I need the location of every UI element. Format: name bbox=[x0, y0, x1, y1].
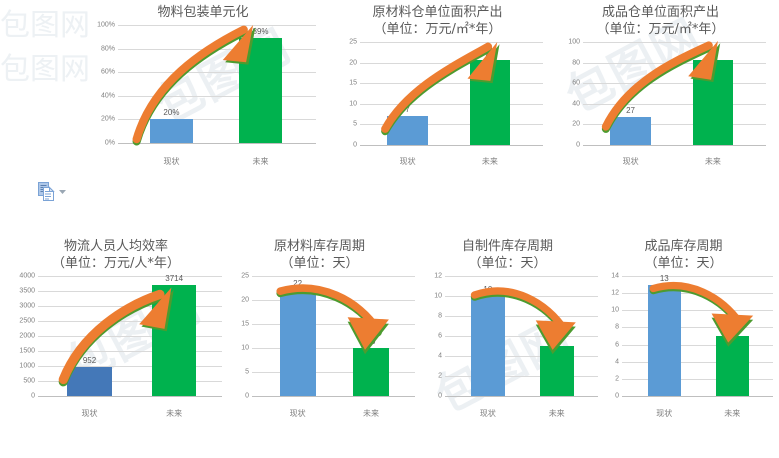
plot-area: 0 2 4 6 8 10 12 10 bbox=[415, 276, 600, 396]
y-tick: 100 bbox=[568, 39, 580, 46]
y-tick: 0 bbox=[31, 393, 35, 400]
chart-subtitle: （单位：万元/㎡*年） bbox=[330, 21, 545, 38]
y-tick: 2500 bbox=[19, 318, 35, 325]
trend-arrow-down-icon bbox=[445, 276, 598, 403]
x-tick-label: 未来 bbox=[363, 408, 379, 419]
x-tick-label: 未来 bbox=[166, 408, 182, 419]
y-tick: 3000 bbox=[19, 303, 35, 310]
y-tick: 6 bbox=[615, 341, 619, 348]
trend-arrow-up-icon bbox=[38, 276, 222, 414]
chart-logistics-staff-efficiency: 物流人员人均效率 （单位：万元/人*年） 0 500 1000 1500 200… bbox=[8, 238, 224, 428]
y-tick: 10 bbox=[349, 100, 357, 107]
chevron-down-icon[interactable] bbox=[58, 187, 67, 196]
chart-title: 原材料仓单位面积产出 bbox=[330, 4, 545, 21]
y-tick: 20% bbox=[101, 116, 115, 123]
chart-title: 成品库存周期 bbox=[592, 238, 775, 255]
x-tick-label: 未来 bbox=[705, 156, 721, 167]
y-tick: 20 bbox=[349, 59, 357, 66]
x-tick-label: 现状 bbox=[290, 408, 306, 419]
y-axis: 0% 20% 40% 60% 80% 100% bbox=[88, 25, 118, 143]
y-tick: 80 bbox=[572, 59, 580, 66]
y-tick: 1500 bbox=[19, 348, 35, 355]
y-tick: 60% bbox=[101, 69, 115, 76]
chart-finished-goods-inventory-cycle: 成品库存周期 （单位：天） 0 2 4 6 8 10 12 14 bbox=[592, 238, 775, 428]
chart-raw-material-warehouse-output: 原材料仓单位面积产出 （单位：万元/㎡*年） 0 5 10 15 20 25 bbox=[330, 4, 545, 174]
x-tick-label: 现状 bbox=[480, 408, 496, 419]
y-tick: 8 bbox=[615, 324, 619, 331]
x-tick-label: 现状 bbox=[400, 156, 416, 167]
y-tick: 14 bbox=[611, 273, 619, 280]
y-tick: 100% bbox=[97, 22, 115, 29]
x-tick-label: 未来 bbox=[253, 156, 269, 167]
y-tick: 0% bbox=[105, 140, 115, 147]
chart-subtitle: （单位：天） bbox=[222, 255, 417, 272]
trend-arrow-up-icon bbox=[583, 42, 766, 160]
y-axis: 0 2 4 6 8 10 12 14 bbox=[592, 276, 622, 396]
trend-arrow-down-icon bbox=[622, 276, 773, 401]
y-tick: 8 bbox=[438, 312, 442, 319]
chart-finished-goods-warehouse-output: 成品仓单位面积产出 （单位：万元/㎡*年） 0 20 40 60 80 100 bbox=[553, 4, 768, 174]
plot-area: 0 2 4 6 8 10 12 14 13 bbox=[592, 276, 775, 396]
chart-title: 自制件库存周期 bbox=[415, 238, 600, 255]
x-tick-label: 现状 bbox=[82, 408, 98, 419]
y-tick: 2000 bbox=[19, 333, 35, 340]
chart-title: 成品仓单位面积产出 bbox=[553, 4, 768, 21]
chart-material-packaging-unitization: 物料包装单元化 0% 20% 40% 60% 80% 100% 20 bbox=[88, 4, 318, 174]
y-tick: 25 bbox=[349, 39, 357, 46]
y-tick: 0 bbox=[576, 142, 580, 149]
y-tick: 4 bbox=[438, 353, 442, 360]
x-tick-label: 现状 bbox=[623, 156, 639, 167]
y-tick: 10 bbox=[241, 345, 249, 352]
y-tick: 0 bbox=[353, 142, 357, 149]
y-tick: 0 bbox=[438, 393, 442, 400]
y-tick: 6 bbox=[438, 333, 442, 340]
y-axis: 0 5 10 15 20 25 bbox=[330, 42, 360, 145]
y-tick: 20 bbox=[241, 297, 249, 304]
chart-title: 物流人员人均效率 bbox=[8, 238, 224, 255]
y-tick: 25 bbox=[241, 273, 249, 280]
chart-subtitle: （单位：万元/㎡*年） bbox=[553, 21, 768, 38]
x-tick-label: 未来 bbox=[549, 408, 565, 419]
y-tick: 4 bbox=[615, 358, 619, 365]
x-tick-label: 未来 bbox=[724, 408, 740, 419]
y-axis: 0 5 10 15 20 25 bbox=[222, 276, 252, 396]
trend-arrow-down-icon bbox=[252, 276, 415, 406]
plot-area: 0% 20% 40% 60% 80% 100% 20% 89% bbox=[88, 25, 318, 143]
plot-area: 0 20 40 60 80 100 27 83 bbox=[553, 42, 768, 145]
y-tick: 500 bbox=[23, 378, 35, 385]
y-axis: 0 500 1000 1500 2000 2500 3000 3500 4000 bbox=[8, 276, 38, 396]
plot-area: 0 5 10 15 20 25 22 10 bbox=[222, 276, 417, 396]
x-tick-label: 未来 bbox=[482, 156, 498, 167]
y-tick: 12 bbox=[611, 290, 619, 297]
y-tick: 15 bbox=[241, 321, 249, 328]
plot-area: 0 5 10 15 20 25 7 21 bbox=[330, 42, 545, 145]
chart-subtitle: （单位：天） bbox=[592, 255, 775, 272]
y-tick: 40% bbox=[101, 92, 115, 99]
paste-clipboard-icon bbox=[38, 182, 55, 201]
x-tick-label: 现状 bbox=[163, 156, 179, 167]
chart-raw-material-inventory-cycle: 原材料库存周期 （单位：天） 0 5 10 15 20 25 22 bbox=[222, 238, 417, 428]
y-tick: 10 bbox=[434, 293, 442, 300]
trend-arrow-up-icon bbox=[360, 42, 543, 160]
chart-subtitle: （单位：天） bbox=[415, 255, 600, 272]
y-tick: 40 bbox=[572, 100, 580, 107]
chart-self-made-parts-inventory-cycle: 自制件库存周期 （单位：天） 0 2 4 6 8 10 12 bbox=[415, 238, 600, 428]
y-tick: 1000 bbox=[19, 363, 35, 370]
y-tick: 3500 bbox=[19, 288, 35, 295]
chart-sheet: 物料包装单元化 0% 20% 40% 60% 80% 100% 20 bbox=[0, 0, 779, 458]
y-tick: 12 bbox=[434, 273, 442, 280]
y-tick: 0 bbox=[615, 393, 619, 400]
y-tick: 2 bbox=[438, 372, 442, 379]
trend-arrow-up-icon bbox=[118, 25, 316, 162]
y-axis: 0 20 40 60 80 100 bbox=[553, 42, 583, 145]
y-tick: 60 bbox=[572, 80, 580, 87]
y-tick: 15 bbox=[349, 80, 357, 87]
y-tick: 4000 bbox=[19, 273, 35, 280]
chart-subtitle: （单位：万元/人*年） bbox=[8, 255, 224, 272]
chart-title: 原材料库存周期 bbox=[222, 238, 417, 255]
plot-area: 0 500 1000 1500 2000 2500 3000 3500 4000 bbox=[8, 276, 224, 396]
y-tick: 10 bbox=[611, 307, 619, 314]
y-axis: 0 2 4 6 8 10 12 bbox=[415, 276, 445, 396]
y-tick: 5 bbox=[353, 121, 357, 128]
y-tick: 0 bbox=[245, 393, 249, 400]
y-tick: 2 bbox=[615, 375, 619, 382]
y-tick: 5 bbox=[245, 369, 249, 376]
chart-title: 物料包装单元化 bbox=[88, 4, 318, 21]
x-tick-label: 现状 bbox=[656, 408, 672, 419]
y-tick: 20 bbox=[572, 121, 580, 128]
y-tick: 80% bbox=[101, 45, 115, 52]
paste-options-button[interactable] bbox=[38, 182, 67, 201]
